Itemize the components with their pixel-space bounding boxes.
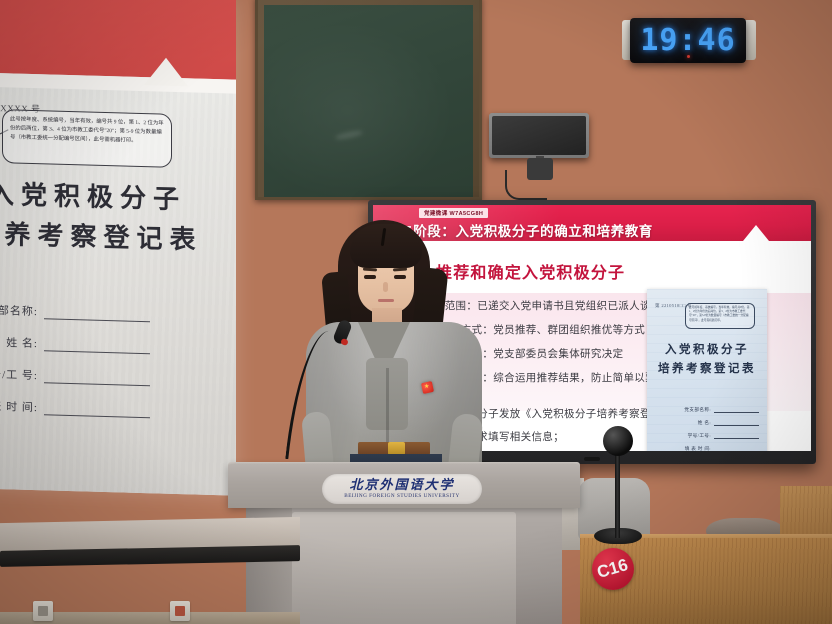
- document-field: 学 号/工 号:: [0, 364, 172, 386]
- document-title: 入党积极分子 培养考察登记表: [0, 174, 218, 262]
- chalk-smudge: [335, 129, 364, 141]
- callout-bubble: 此号按年度、系统编号，当年有效，编号共 9 位，第 1、2 位为年份的后两位，第…: [2, 109, 172, 168]
- seat-number-sticker: C16: [592, 548, 634, 590]
- field-line: [714, 447, 759, 451]
- clock-time: 19:46: [640, 23, 735, 58]
- document-title: 入党积极分子 培养考察登记表: [647, 341, 767, 379]
- field-label: 学 号/工 号:: [0, 364, 38, 383]
- field-label: 姓 名:: [681, 420, 711, 426]
- field-line: [44, 340, 150, 354]
- cardigan-placket: [386, 368, 389, 446]
- chalkboard: [255, 0, 482, 200]
- field-label: 填 表 时 间:: [681, 446, 711, 451]
- digital-clock-icon: 19:46: [630, 18, 746, 63]
- wall-speaker-icon: [489, 113, 589, 158]
- document-title-line2: 培养考察登记表: [0, 214, 218, 262]
- seat-number-label: C16: [595, 555, 630, 583]
- eye-right: [394, 275, 406, 279]
- field-line: [44, 372, 150, 386]
- field-line: [714, 434, 759, 439]
- microphone-icon: [603, 426, 633, 456]
- document-field: 学号/工号:: [681, 433, 759, 439]
- document-fields: 党支部名称: 姓 名: 学 号/工 号: 填 表 时 间:: [0, 300, 172, 434]
- hair-front: [350, 224, 422, 268]
- callout-bubble: 此号按年度、系统编号，当年有效，编号共9位，第1、2位为年份的后两位，第3、4位…: [685, 303, 755, 329]
- document-field: 填 表 时 间:: [0, 396, 172, 418]
- left-projection-screen: 第 XXXXXXXX 号 此号按年度、系统编号，当年有效，编号共 9 位，第 1…: [0, 0, 236, 496]
- field-line: [44, 404, 150, 418]
- power-outlet-icon: [170, 601, 190, 621]
- document-field: 填 表 时 间:: [681, 446, 759, 451]
- power-outlet-icon: [33, 601, 53, 621]
- speaker-cable: [505, 170, 547, 200]
- field-line: [714, 421, 759, 426]
- slide-header-notch: [743, 225, 769, 241]
- document-field: 姓 名:: [0, 332, 172, 354]
- document-field: 姓 名:: [681, 420, 759, 426]
- eye-left: [364, 275, 376, 279]
- field-label: 党支部名称:: [681, 407, 711, 413]
- field-line: [714, 408, 759, 413]
- left-projection-notch: [144, 57, 188, 86]
- university-name-en: BEIJING FOREIGN STUDIES UNIVERSITY: [344, 494, 459, 499]
- slide-document-thumbnail: 第 2210510□□ 号 此号按年度、系统编号，当年有效，编号共9位，第1、2…: [647, 289, 767, 451]
- nose: [383, 282, 388, 292]
- document-title-line1: 入党积极分子: [0, 174, 218, 222]
- left-projection-header: [0, 0, 236, 80]
- field-label: 姓 名:: [0, 332, 38, 351]
- slide-badge: 党建微课 W7A5CG8H: [419, 208, 488, 218]
- desk-microphone-shaft: [615, 450, 620, 538]
- outlet-socket: [38, 606, 48, 616]
- field-label: 填 表 时 间:: [0, 396, 38, 415]
- outlet-socket: [175, 606, 185, 616]
- wall-speaker-screen: [492, 116, 586, 155]
- field-label: 学号/工号:: [681, 433, 711, 439]
- classroom-scene: 19:46 第 XXXXXXXX 号 此号按年度、系统编号，当年有效，编号共 9…: [0, 0, 832, 624]
- field-label: 党支部名称:: [0, 300, 38, 319]
- document-title-line2: 培养考察登记表: [647, 360, 767, 379]
- university-name-cn: 北京外国语大学: [349, 478, 454, 491]
- document-fields: 党支部名称: 姓 名: 学号/工号: 填 表 时 间:: [681, 407, 759, 451]
- podium-plaque: 北京外国语大学 BEIJING FOREIGN STUDIES UNIVERSI…: [322, 474, 482, 504]
- field-line: [44, 308, 150, 322]
- tv-ir-sensor: [584, 457, 600, 461]
- badge-star-icon: ★: [424, 384, 429, 390]
- chalkboard-surface: [264, 5, 473, 197]
- left-projection-document: 第 XXXXXXXX 号 此号按年度、系统编号，当年有效，编号共 9 位，第 1…: [0, 86, 236, 495]
- document-field: 党支部名称:: [0, 300, 172, 322]
- podium-front-panel: [292, 512, 516, 624]
- clock-indicator-dot: [687, 55, 690, 58]
- document-title-line1: 入党积极分子: [647, 341, 767, 360]
- mouth: [378, 299, 394, 302]
- document-field: 党支部名称:: [681, 407, 759, 413]
